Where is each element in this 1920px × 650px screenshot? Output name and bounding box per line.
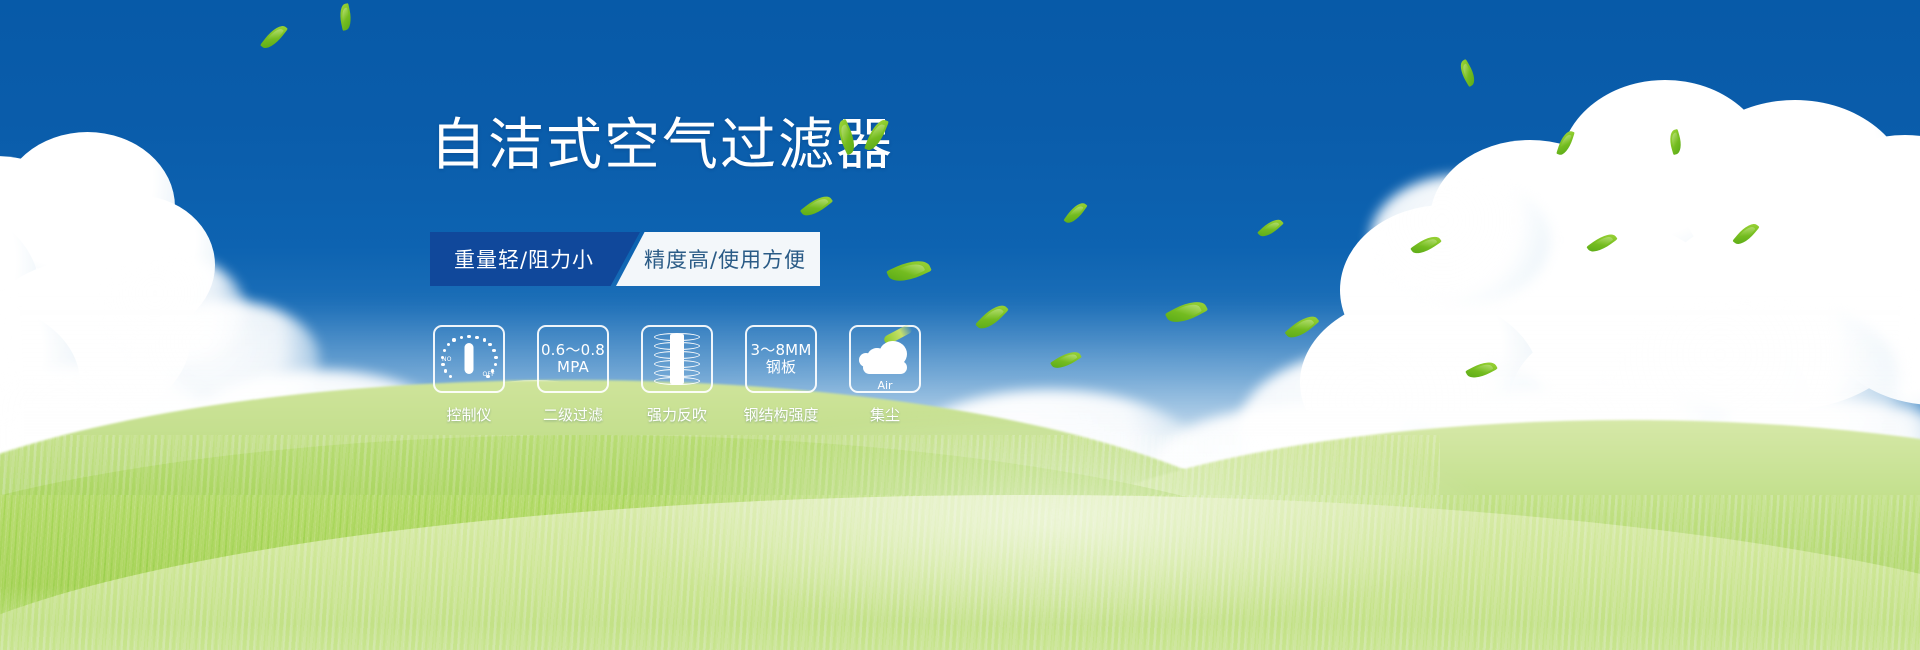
leaf-icon bbox=[834, 119, 860, 155]
page-title: 自洁式空气过滤器 bbox=[430, 118, 894, 174]
hero-banner: 自洁式空气过滤器 重量轻/阻力小 精度高/使用方便 bbox=[0, 0, 1920, 650]
feature-item-backblow: 强力反吹 bbox=[638, 325, 716, 425]
feature-icon-box: Air bbox=[849, 325, 921, 393]
title-leaf-decoration bbox=[838, 116, 898, 160]
gauge-needle bbox=[465, 343, 474, 374]
tagline-bar: 重量轻/阻力小 精度高/使用方便 bbox=[430, 232, 820, 286]
steel-plate-text-icon: 3〜8MM 钢板 bbox=[751, 342, 812, 377]
cloud-base bbox=[863, 361, 907, 374]
gauge-label-off: OFF bbox=[482, 371, 495, 378]
feature-icon-box bbox=[641, 325, 713, 393]
gauge-icon: NO OFF bbox=[442, 334, 496, 384]
tagline-left: 重量轻/阻力小 bbox=[430, 232, 640, 286]
feature-caption: 二级过滤 bbox=[543, 404, 603, 425]
feature-list: NO OFF 控制仪 0.6〜0.8 MPA 二级过滤 bbox=[430, 325, 924, 425]
filter-stack-icon bbox=[654, 333, 700, 385]
feature-item-pressure: 0.6〜0.8 MPA 二级过滤 bbox=[534, 325, 612, 425]
feature-item-dust: Air 集尘 bbox=[846, 325, 924, 425]
leaf-icon bbox=[864, 117, 889, 153]
feature-caption: 强力反吹 bbox=[647, 404, 707, 425]
feature-caption: 钢结构强度 bbox=[743, 404, 818, 425]
feature-icon-box: NO OFF bbox=[433, 325, 505, 393]
pressure-text-icon: 0.6〜0.8 MPA bbox=[541, 342, 605, 377]
feature-item-steel: 3〜8MM 钢板 钢结构强度 bbox=[742, 325, 820, 425]
gauge-label-on: NO bbox=[442, 356, 452, 363]
feature-caption: 控制仪 bbox=[446, 404, 491, 425]
tagline-right: 精度高/使用方便 bbox=[616, 232, 820, 286]
feature-icon-box: 3〜8MM 钢板 bbox=[745, 325, 817, 393]
air-cloud-icon: Air bbox=[857, 335, 913, 383]
feature-caption: 集尘 bbox=[870, 404, 900, 425]
feature-icon-box: 0.6〜0.8 MPA bbox=[537, 325, 609, 393]
feature-item-controller: NO OFF 控制仪 bbox=[430, 325, 508, 425]
banner-content: 自洁式空气过滤器 重量轻/阻力小 精度高/使用方便 bbox=[0, 0, 1920, 650]
air-label: Air bbox=[857, 379, 913, 392]
